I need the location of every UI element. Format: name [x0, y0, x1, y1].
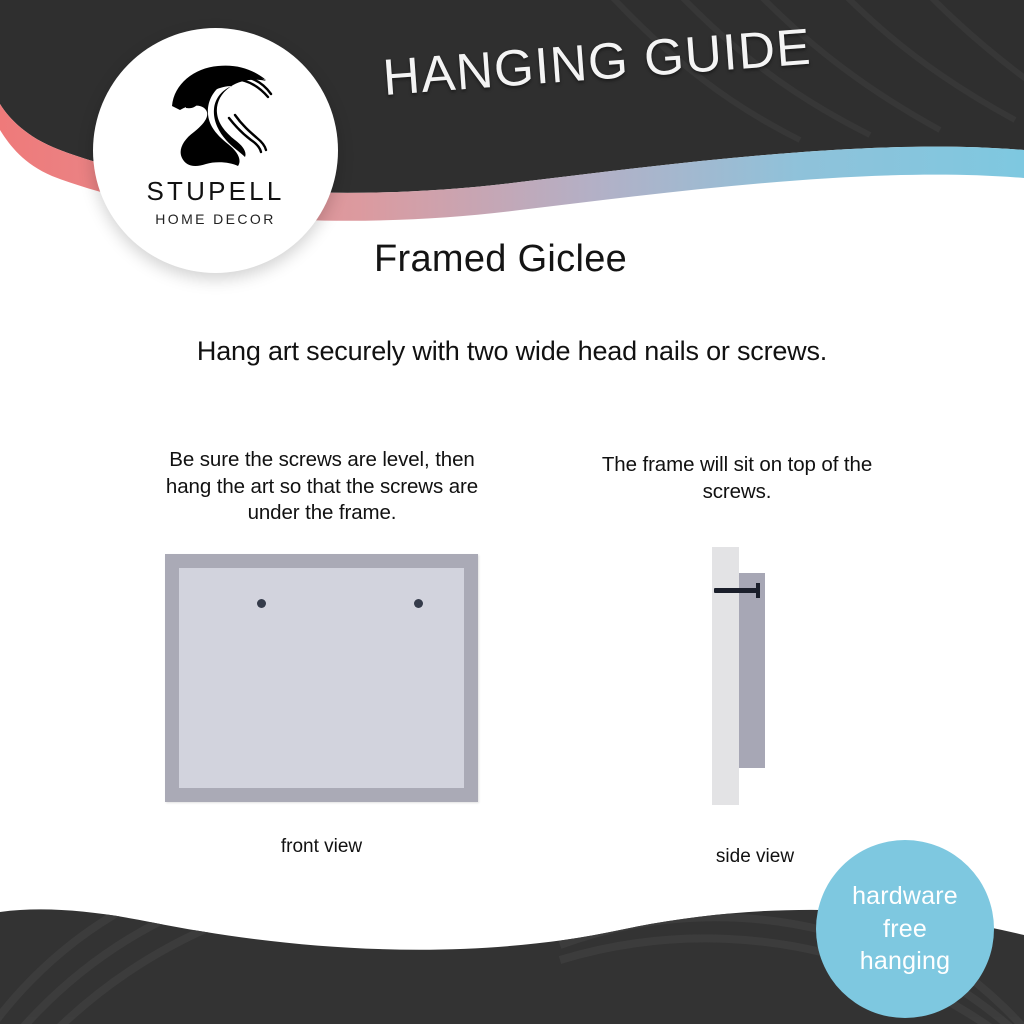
- side-view-diagram: [700, 540, 810, 815]
- logo-tagline: HOME DECOR: [155, 212, 275, 226]
- badge-line-1: hardware: [852, 880, 958, 913]
- stupell-swoosh-icon: [150, 54, 282, 172]
- nail-head-icon: [756, 583, 760, 598]
- badge-line-3: hanging: [860, 945, 950, 978]
- badge-line-2: free: [883, 913, 927, 946]
- screw-dot-right: [414, 599, 423, 608]
- side-view-wall: [712, 547, 739, 805]
- brand-logo-badge: STUPELL HOME DECOR: [93, 28, 338, 273]
- front-view-diagram: [165, 554, 478, 802]
- front-view-mat: [179, 568, 464, 788]
- product-name: Framed Giclee: [374, 238, 627, 281]
- side-view-frame: [739, 573, 765, 768]
- front-view-caption: Be sure the screws are level, then hang …: [152, 447, 492, 527]
- logo-wordmark: STUPELL: [146, 178, 284, 204]
- nail-shaft-icon: [714, 588, 759, 593]
- hanging-guide-page: STUPELL HOME DECOR HANGING GUIDE Framed …: [0, 0, 1024, 1024]
- page-title: HANGING GUIDE: [381, 17, 813, 107]
- screw-dot-left: [257, 599, 266, 608]
- hardware-free-hanging-badge: hardware free hanging: [816, 840, 994, 1018]
- side-view-caption: The frame will sit on top of the screws.: [586, 452, 888, 505]
- side-view-label: side view: [660, 846, 850, 868]
- front-view-label: front view: [165, 836, 478, 858]
- intro-instruction: Hang art securely with two wide head nai…: [0, 336, 1024, 367]
